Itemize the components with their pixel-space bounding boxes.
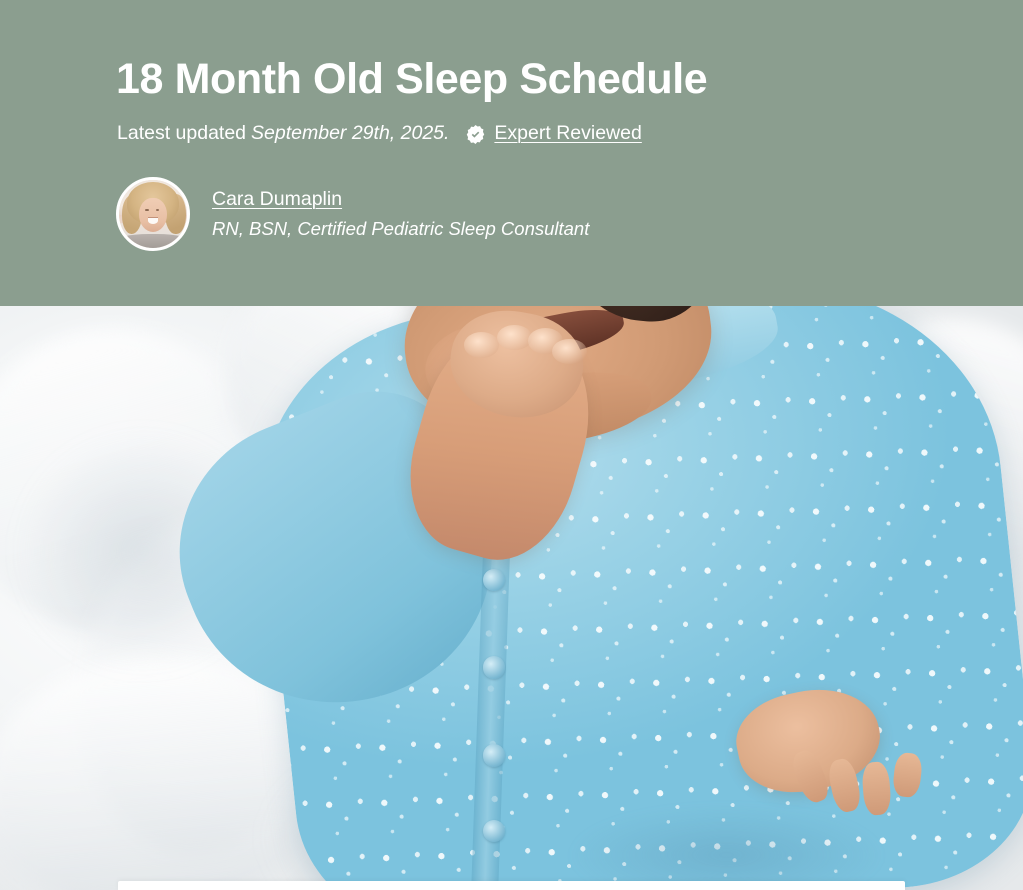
author-name-link[interactable]: Cara Dumaplin [212,186,342,212]
page-title: 18 Month Old Sleep Schedule [116,52,707,106]
baby-leg-shadow [573,808,880,890]
author-text-block: Cara Dumaplin RN, BSN, Certified Pediatr… [212,186,589,242]
last-updated-label: Latest updated [117,119,246,147]
verified-check-badge-icon [465,124,486,145]
expert-reviewed-link[interactable]: Expert Reviewed [494,119,641,147]
article-content-panel [118,881,905,890]
onesie-snap [483,744,506,767]
hero-photo [0,306,1023,890]
baby-subject [0,306,1023,890]
last-updated-date: September 29th, 2025. [251,119,449,147]
article-meta-row: Latest updated September 29th, 2025. Exp… [117,119,642,147]
article-page: 18 Month Old Sleep Schedule Latest updat… [0,0,1023,890]
author-avatar[interactable] [116,177,190,251]
avatar-photo-art [119,180,187,248]
author-byline: Cara Dumaplin RN, BSN, Certified Pediatr… [116,177,589,251]
author-credentials: RN, BSN, Certified Pediatric Sleep Consu… [212,216,589,242]
article-header: 18 Month Old Sleep Schedule Latest updat… [0,0,1023,306]
onesie-snap [483,656,506,679]
